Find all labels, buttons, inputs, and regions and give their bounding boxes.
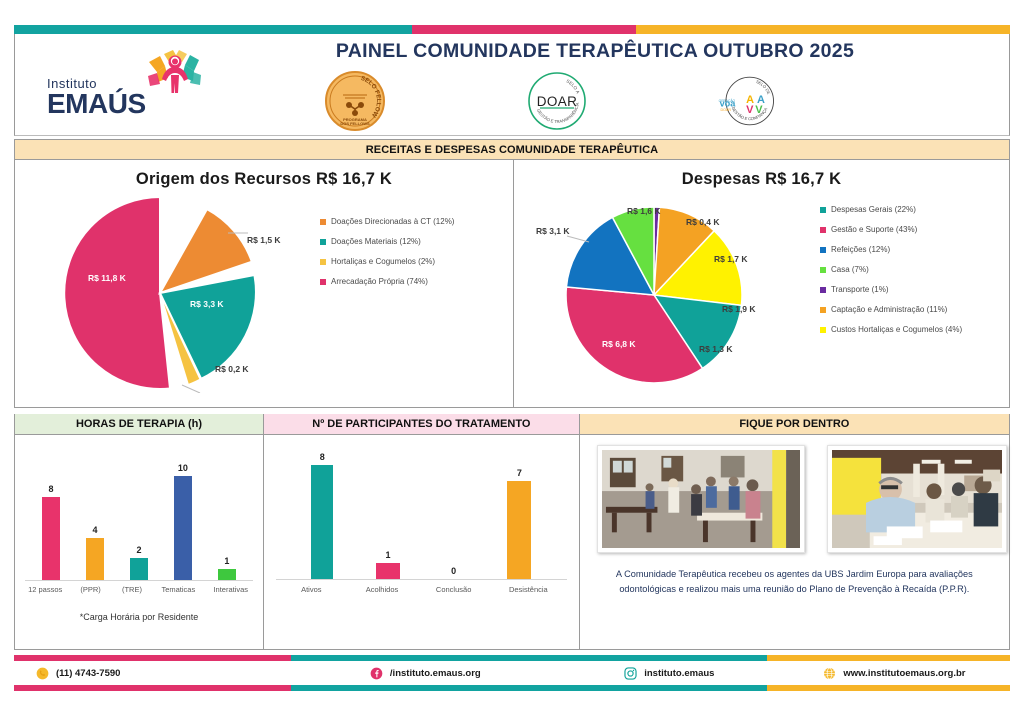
legend-swatch-icon — [820, 227, 826, 233]
legend-label: Casa (7%) — [831, 265, 869, 274]
svg-text:V: V — [746, 104, 754, 116]
bar — [174, 476, 192, 580]
panel-participantes-tratamento: 8 1 0 7 — [264, 435, 580, 650]
bar — [311, 465, 333, 579]
x-tick-label: Interativas — [206, 585, 256, 594]
bar-column: 1 — [376, 449, 400, 579]
phone-icon — [36, 667, 49, 680]
legend-label: Transporte (1%) — [831, 285, 889, 294]
legend-item: Doações Materiais (12%) — [320, 237, 454, 246]
footer-phone[interactable]: (11) 4743-7590 — [14, 667, 291, 680]
instagram-icon — [624, 667, 637, 680]
bar-column: 1 — [218, 455, 236, 580]
strip-segment-orange — [636, 25, 1010, 34]
bar-value: 2 — [136, 545, 141, 555]
logo-emaus-word: EMAÚS — [47, 91, 146, 118]
dashboard-footer: (11) 4743-7590 /instituto.emaus.org inst… — [14, 655, 1010, 691]
legend-origem-dos-recursos: Doações Direcionadas à CT (12%) Doações … — [320, 217, 454, 297]
bar-value: 8 — [320, 452, 325, 462]
photo-refeitorio — [597, 445, 805, 553]
section-header-participantes: Nº DE PARTICIPANTES DO TRATAMENTO — [264, 414, 580, 435]
legend-label: Refeições (12%) — [831, 245, 890, 254]
legend-swatch-icon — [820, 307, 826, 313]
selo-fellow-badge: SELO FELLOW PROGRAMA DOS FELLOWS — [323, 70, 387, 132]
top-color-strip — [14, 25, 1010, 34]
panel-origem-dos-recursos: Origem dos Recursos R$ 16,7 K R$ 11,8 K … — [15, 160, 514, 407]
bar-chart-participantes: 8 1 0 7 — [264, 435, 579, 650]
footer-website-label: www.institutoemaus.org.br — [843, 668, 965, 679]
footer-website[interactable]: www.institutoemaus.org.br — [779, 667, 1010, 680]
footer-instagram[interactable]: instituto.emaus — [560, 667, 779, 680]
legend-item: Arrecadação Própria (74%) — [320, 277, 454, 286]
pie-slice-label-refeicoes: R$ 3,1 K — [536, 226, 570, 236]
footer-strip-pink-2 — [14, 685, 291, 691]
pie-area-origem: R$ 11,8 K R$ 3,3 K R$ 1,5 K R$ 0,2 K Doa… — [15, 189, 513, 393]
bottom-section-headers: HORAS DE TERAPIA (h) Nº DE PARTICIPANTES… — [14, 414, 1010, 435]
x-tick-label: Tematicas — [153, 585, 203, 594]
footer-facebook-label: /instituto.emaus.org — [390, 668, 481, 679]
footer-strip-teal-2 — [291, 685, 767, 691]
bar — [218, 569, 236, 580]
legend-despesas: Despesas Gerais (22%) Gestão e Suporte (… — [820, 205, 962, 345]
pie-slice-label-custos-hortalicas: R$ 1,9 K — [722, 304, 756, 314]
bar-column: 2 — [130, 455, 148, 580]
legend-label: Gestão e Suporte (43%) — [831, 225, 917, 234]
pie-slice-label-doacoes-materiais: R$ 3,3 K — [190, 299, 224, 309]
legend-item: Transporte (1%) — [820, 285, 962, 294]
svg-text:DOAR: DOAR — [537, 94, 578, 109]
legend-swatch-icon — [820, 287, 826, 293]
bar-column: 7 — [507, 449, 531, 579]
bar-column: 8 — [42, 455, 60, 580]
bar — [42, 497, 60, 580]
bar-column: 10 — [174, 455, 192, 580]
legend-item: Casa (7%) — [820, 265, 962, 274]
pie-slice-label-hortalicas: R$ 0,2 K — [215, 364, 249, 374]
legend-item: Custos Hortaliças e Cogumelos (4%) — [820, 325, 962, 334]
legend-item: Gestão e Suporte (43%) — [820, 225, 962, 234]
photo-gallery — [580, 445, 1009, 557]
bottom-row: 8 4 2 10 1 — [14, 435, 1010, 650]
photo-image — [832, 450, 1002, 548]
section-header-horas-terapia: HORAS DE TERAPIA (h) — [14, 414, 264, 435]
footer-contacts: (11) 4743-7590 /instituto.emaus.org inst… — [14, 661, 1010, 685]
footer-instagram-label: instituto.emaus — [644, 668, 714, 679]
dashboard-page: Instituto EMAÚS PAINEL COMUNIDADE TERAPÊ… — [0, 0, 1024, 724]
legend-label: Hortaliças e Cogumelos (2%) — [331, 257, 435, 266]
selo-voa-doar-badge: SELO DE GESTÃO E CONFIANÇA GERAÇÃO voa D… — [715, 70, 779, 132]
bar — [507, 481, 531, 579]
legend-label: Despesas Gerais (22%) — [831, 205, 916, 214]
pie-slice-label-gestao-suporte: R$ 6,8 K — [602, 339, 636, 349]
legend-swatch-icon — [320, 239, 326, 245]
pie-chart-origem — [55, 193, 265, 393]
x-tick-label: Ativos — [281, 585, 341, 594]
bar-value: 1 — [224, 556, 229, 566]
globe-icon — [823, 667, 836, 680]
legend-swatch-icon — [820, 207, 826, 213]
bar — [130, 558, 148, 580]
pie-slice-label-despesas-gerais: R$ 1,3 K — [699, 344, 733, 354]
strip-segment-teal — [14, 25, 412, 34]
panel-despesas: Despesas R$ 16,7 K — [514, 160, 1009, 407]
bar-column: 0 — [443, 449, 465, 579]
legend-label: Doações Materiais (12%) — [331, 237, 421, 246]
dashboard-header: Instituto EMAÚS PAINEL COMUNIDADE TERAPÊ… — [14, 34, 1010, 136]
svg-text:DOS FELLOWS: DOS FELLOWS — [340, 121, 370, 126]
page-title: PAINEL COMUNIDADE TERAPÊUTICA OUTUBRO 20… — [245, 40, 945, 63]
chart-footnote: *Carga Horária por Residente — [15, 612, 263, 622]
x-tick-label: (PPR) — [71, 585, 111, 594]
legend-item: Refeições (12%) — [820, 245, 962, 254]
charts-row: Origem dos Recursos R$ 16,7 K R$ 11,8 K … — [14, 160, 1010, 408]
footer-strip-bottom — [14, 685, 1010, 691]
x-tick-label: Conclusão — [423, 585, 485, 594]
x-axis-line — [25, 580, 253, 581]
legend-label: Doações Direcionadas à CT (12%) — [331, 217, 454, 226]
x-tick-label: Acolhidos — [352, 585, 412, 594]
bar-value: 4 — [92, 525, 97, 535]
legend-swatch-icon — [320, 279, 326, 285]
x-tick-label: (TRE) — [113, 585, 151, 594]
legend-item: Despesas Gerais (22%) — [820, 205, 962, 214]
photo-2-graphic — [832, 450, 1002, 548]
panel-fique-por-dentro: A Comunidade Terapêutica recebeu os agen… — [580, 435, 1010, 650]
pie-chart-despesas — [559, 203, 749, 388]
legend-swatch-icon — [820, 327, 826, 333]
strip-segment-pink — [412, 25, 636, 34]
chart-title-despesas: Despesas R$ 16,7 K — [514, 160, 1009, 189]
legend-swatch-icon — [320, 219, 326, 225]
photo-1-graphic — [602, 450, 800, 548]
pie-slice-label-arrecadacao: R$ 11,8 K — [88, 273, 126, 283]
legend-item: Captação e Administração (11%) — [820, 305, 962, 314]
instituto-emaus-logo: Instituto EMAÚS — [37, 48, 212, 124]
legend-swatch-icon — [320, 259, 326, 265]
svg-text:DOAR: DOAR — [720, 108, 731, 112]
section-header-receitas-despesas: RECEITAS E DESPESAS COMUNIDADE TERAPÊUTI… — [14, 139, 1010, 160]
svg-text:A: A — [757, 94, 765, 106]
bar-column: 4 — [86, 455, 104, 580]
pie-slice-label-captacao: R$ 1,7 K — [714, 254, 748, 264]
svg-text:voa: voa — [720, 98, 737, 108]
bar — [376, 563, 400, 579]
pie-slice-label-casa: R$ 1,6 K — [627, 206, 661, 216]
section-header-fique-por-dentro: FIQUE POR DENTRO — [580, 414, 1010, 435]
facebook-icon — [370, 667, 383, 680]
emaus-logo-text: Instituto EMAÚS — [47, 76, 146, 118]
bar — [86, 538, 104, 580]
pie-slice-label-doacoes-ct: R$ 1,5 K — [247, 235, 281, 245]
pie-area-despesas: R$ 1,6 K R$ 0,4 K R$ 3,1 K R$ 1,7 K R$ 1… — [514, 189, 1009, 393]
bar-value: 10 — [178, 463, 188, 473]
x-tick-label: 12 passos — [22, 585, 68, 594]
bar-value: 7 — [517, 468, 522, 478]
photo-image — [602, 450, 800, 548]
bar-column: 8 — [311, 449, 333, 579]
panel-horas-de-terapia: 8 4 2 10 1 — [14, 435, 264, 650]
legend-item: Hortaliças e Cogumelos (2%) — [320, 257, 454, 266]
legend-label: Captação e Administração (11%) — [831, 305, 947, 314]
bar-chart-horas-terapia: 8 4 2 10 1 — [15, 435, 263, 650]
photo-reuniao — [827, 445, 1007, 553]
selo-doar-badge: SELO A GESTÃO E TRANSPARÊNCIA DOAR — [525, 70, 589, 132]
emaus-logo-mark — [144, 48, 206, 100]
x-tick-label: Desistência — [495, 585, 561, 594]
legend-label: Arrecadação Própria (74%) — [331, 277, 428, 286]
footer-strip-orange-2 — [767, 685, 1010, 691]
x-axis-line — [276, 579, 567, 580]
legend-item: Doações Direcionadas à CT (12%) — [320, 217, 454, 226]
legend-swatch-icon — [820, 267, 826, 273]
legend-swatch-icon — [820, 247, 826, 253]
chart-title-origem: Origem dos Recursos R$ 16,7 K — [15, 160, 513, 189]
footer-facebook[interactable]: /instituto.emaus.org — [291, 667, 560, 680]
bar-value: 8 — [48, 484, 53, 494]
bar-value: 0 — [451, 566, 456, 576]
fique-por-dentro-caption: A Comunidade Terapêutica recebeu os agen… — [608, 567, 981, 597]
bar-value: 1 — [385, 550, 390, 560]
footer-phone-label: (11) 4743-7590 — [56, 668, 120, 679]
legend-label: Custos Hortaliças e Cogumelos (4%) — [831, 325, 962, 334]
pie-slice-label-transporte: R$ 0,4 K — [686, 217, 720, 227]
